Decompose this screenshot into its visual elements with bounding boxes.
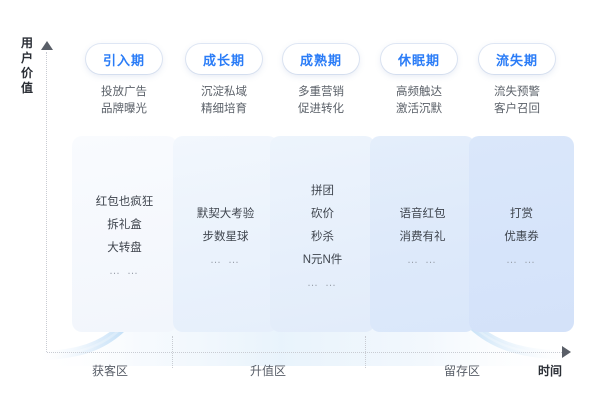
card-ellipsis: … … bbox=[307, 277, 338, 289]
card-ellipsis: … … bbox=[407, 254, 438, 266]
phase-card-5[interactable]: 打赏 优惠券 … … bbox=[469, 136, 574, 332]
card-item: 拼团 bbox=[311, 180, 334, 203]
card-ellipsis: … … bbox=[210, 254, 241, 266]
phase-subtitle-2-line-1: 沉淀私域 bbox=[176, 84, 272, 101]
card-item: 打赏 bbox=[510, 203, 533, 226]
card-item: 语音红包 bbox=[400, 203, 446, 226]
lifecycle-value-diagram: 用户价值 bbox=[0, 0, 606, 412]
card-item: 优惠券 bbox=[504, 226, 539, 249]
y-axis-label: 用户价值 bbox=[18, 36, 36, 96]
arrow-up-icon bbox=[41, 41, 53, 50]
phase-pill-1[interactable]: 引入期 bbox=[86, 44, 162, 74]
phase-subtitle-3-line-2: 促进转化 bbox=[273, 101, 369, 118]
phase-pill-2[interactable]: 成长期 bbox=[186, 44, 262, 74]
x-axis-line bbox=[47, 352, 562, 353]
card-item: 默契大考验 bbox=[197, 203, 255, 226]
phase-subtitle-4-line-1: 高频触达 bbox=[371, 84, 467, 101]
card-ellipsis: … … bbox=[506, 254, 537, 266]
y-axis-line bbox=[46, 52, 47, 352]
phase-subtitle-3-line-1: 多重营销 bbox=[273, 84, 369, 101]
zone-label-2: 升值区 bbox=[220, 362, 316, 379]
phase-subtitle-2-line-2: 精细培育 bbox=[176, 101, 272, 118]
card-item: 拆礼盒 bbox=[107, 214, 142, 237]
phase-subtitle-1-line-1: 投放广告 bbox=[76, 84, 172, 101]
phase-subtitle-4-line-2: 激活沉默 bbox=[371, 101, 467, 118]
card-item: 红包也疯狂 bbox=[96, 191, 154, 214]
card-ellipsis: … … bbox=[109, 265, 140, 277]
card-item: 秒杀 bbox=[311, 226, 334, 249]
x-axis-label: 时间 bbox=[538, 362, 562, 379]
phase-subtitle-5-line-1: 流失预警 bbox=[469, 84, 565, 101]
card-item: 步数星球 bbox=[203, 226, 249, 249]
card-item: 砍价 bbox=[311, 203, 334, 226]
phase-card-3[interactable]: 拼团 砍价 秒杀 N元N件 … … bbox=[270, 136, 375, 332]
phase-pill-4[interactable]: 休眠期 bbox=[381, 44, 457, 74]
card-item: 大转盘 bbox=[107, 237, 142, 260]
zone-label-1: 获客区 bbox=[62, 362, 158, 379]
phase-subtitle-1-line-2: 品牌曝光 bbox=[76, 101, 172, 118]
phase-card-1[interactable]: 红包也疯狂 拆礼盒 大转盘 … … bbox=[72, 136, 177, 332]
arrow-right-icon bbox=[562, 346, 571, 358]
phase-subtitle-3: 多重营销 促进转化 bbox=[273, 84, 369, 118]
phase-pill-5[interactable]: 流失期 bbox=[479, 44, 555, 74]
phase-subtitle-5: 流失预警 客户召回 bbox=[469, 84, 565, 118]
card-item: N元N件 bbox=[303, 249, 343, 272]
phase-card-2[interactable]: 默契大考验 步数星球 … … bbox=[173, 136, 278, 332]
phase-subtitle-5-line-2: 客户召回 bbox=[469, 101, 565, 118]
card-item: 消费有礼 bbox=[400, 226, 446, 249]
phase-pill-3[interactable]: 成熟期 bbox=[283, 44, 359, 74]
phase-subtitle-4: 高频触达 激活沉默 bbox=[371, 84, 467, 118]
phase-subtitle-1: 投放广告 品牌曝光 bbox=[76, 84, 172, 118]
zone-label-3: 留存区 bbox=[414, 362, 510, 379]
phase-subtitle-2: 沉淀私域 精细培育 bbox=[176, 84, 272, 118]
phase-card-4[interactable]: 语音红包 消费有礼 … … bbox=[370, 136, 475, 332]
